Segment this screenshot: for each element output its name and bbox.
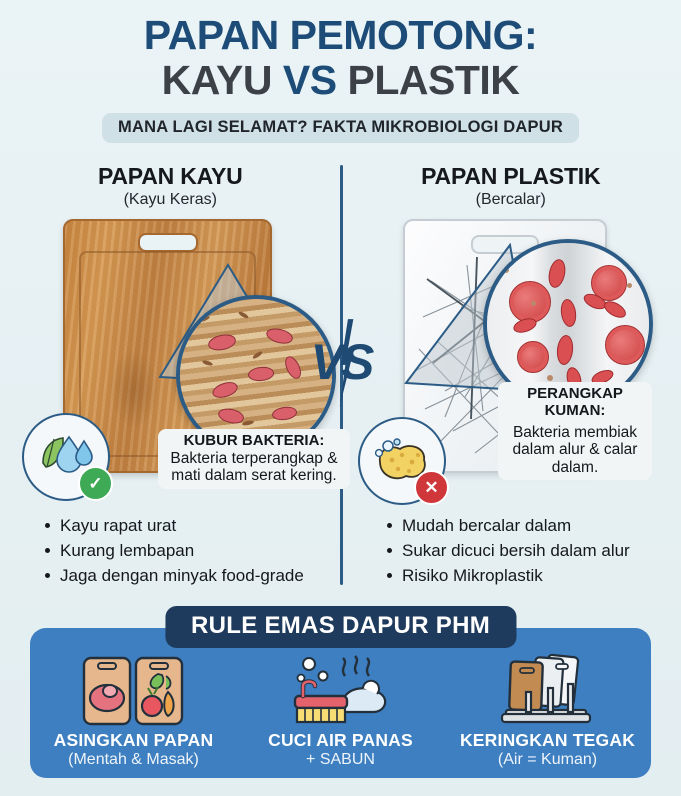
wood-bullets: Kayu rapat urat Kurang lembapan Jaga den… [0,513,339,588]
two-boards-glyph [80,654,188,728]
list-item: Risiko Mikroplastik [387,563,681,588]
title-vs: VS [283,57,348,103]
check-badge-icon: ✓ [78,466,113,501]
leaf-water-icon: ✓ [22,413,110,501]
list-item: Jaga dengan minyak food-grade [45,563,339,588]
title-plastik: PLASTIK [348,57,520,103]
plastic-bullets: Mudah bercalar dalam Sukar dicuci bersih… [339,513,681,588]
virus-shape [509,281,551,323]
list-item: Mudah bercalar dalam [387,513,681,538]
bullet-lists: Kayu rapat urat Kurang lembapan Jaga den… [0,513,681,588]
plastic-heading: PAPAN PLASTIK [341,163,681,190]
panel-heading: RULE EMAS DAPUR PHM [165,606,516,648]
rule-item-dry-upright: KERINGKAN TEGAK (Air = Kuman) [444,652,651,778]
plastic-subheading: (Bercalar) [341,191,681,209]
page-title-line1: PAPAN PEMOTONG: [0,14,681,57]
column-head-wood: PAPAN KAYU (Kayu Keras) [0,163,341,209]
boards-area: VS ✓ [0,217,681,509]
list-item: Sukar dicuci bersih dalam alur [387,538,681,563]
list-item: Kurang lembapan [45,538,339,563]
panel-items: ASINGKAN PAPAN (Mentah & Masak) [30,628,651,778]
page-subtitle: MANA LAGI SELAMAT? FAKTA MIKROBIOLOGI DA… [102,113,579,143]
rule-item-separate-boards: ASINGKAN PAPAN (Mentah & Masak) [30,652,237,778]
versus-badge: VS [300,327,382,397]
list-item: Kayu rapat urat [45,513,339,538]
wood-callout-body: Bakteria terperangkap & mati dalam serat… [164,450,344,485]
rule-title: ASINGKAN PAPAN [30,730,237,751]
rule-sub: + SABUN [237,751,444,769]
plastic-callout: PERANGKAP KUMAN: Bakteria membiak dalam … [498,382,652,480]
versus-label: VS [311,333,372,391]
drying-rack-glyph [496,652,600,728]
sponge-icon: ✕ [358,417,446,505]
title-kayu: KAYU [162,57,283,103]
rule-title: KERINGKAN TEGAK [444,730,651,751]
plastic-callout-title: PERANGKAP KUMAN: [504,386,646,419]
wood-heading: PAPAN KAYU [0,163,341,190]
rule-sub: (Mentah & Masak) [30,751,237,769]
drying-rack-icon [444,652,651,728]
page-title-line2: KAYU VS PLASTIK [0,59,681,102]
scrub-brush-hot-water-icon [237,652,444,728]
header-block: PAPAN PEMOTONG: KAYU VS PLASTIK MANA LAG… [0,0,681,143]
virus-shape [605,325,645,365]
rule-title: CUCI AIR PANAS [237,730,444,751]
column-head-plastic: PAPAN PLASTIK (Bercalar) [341,163,681,209]
infographic-root: PAPAN PEMOTONG: KAYU VS PLASTIK MANA LAG… [0,0,681,796]
wood-callout: KUBUR BAKTERIA: Bakteria terperangkap & … [158,429,350,489]
rule-sub: (Air = Kuman) [444,751,651,769]
two-cutting-boards-icon [30,652,237,728]
rule-item-hot-water-soap: CUCI AIR PANAS + SABUN [237,652,444,778]
brush-glyph [285,652,397,728]
virus-shape [517,341,549,373]
wood-subheading: (Kayu Keras) [0,191,341,209]
subtitle-wrap: MANA LAGI SELAMAT? FAKTA MIKROBIOLOGI DA… [0,113,681,143]
plastic-callout-body: Bakteria membiak dalam alur & calar dala… [504,424,646,476]
wood-callout-title: KUBUR BAKTERIA: [164,433,344,450]
golden-rules-panel: RULE EMAS DAPUR PHM [30,628,651,778]
wood-board-handle [138,233,198,252]
cross-badge-icon: ✕ [414,470,449,505]
